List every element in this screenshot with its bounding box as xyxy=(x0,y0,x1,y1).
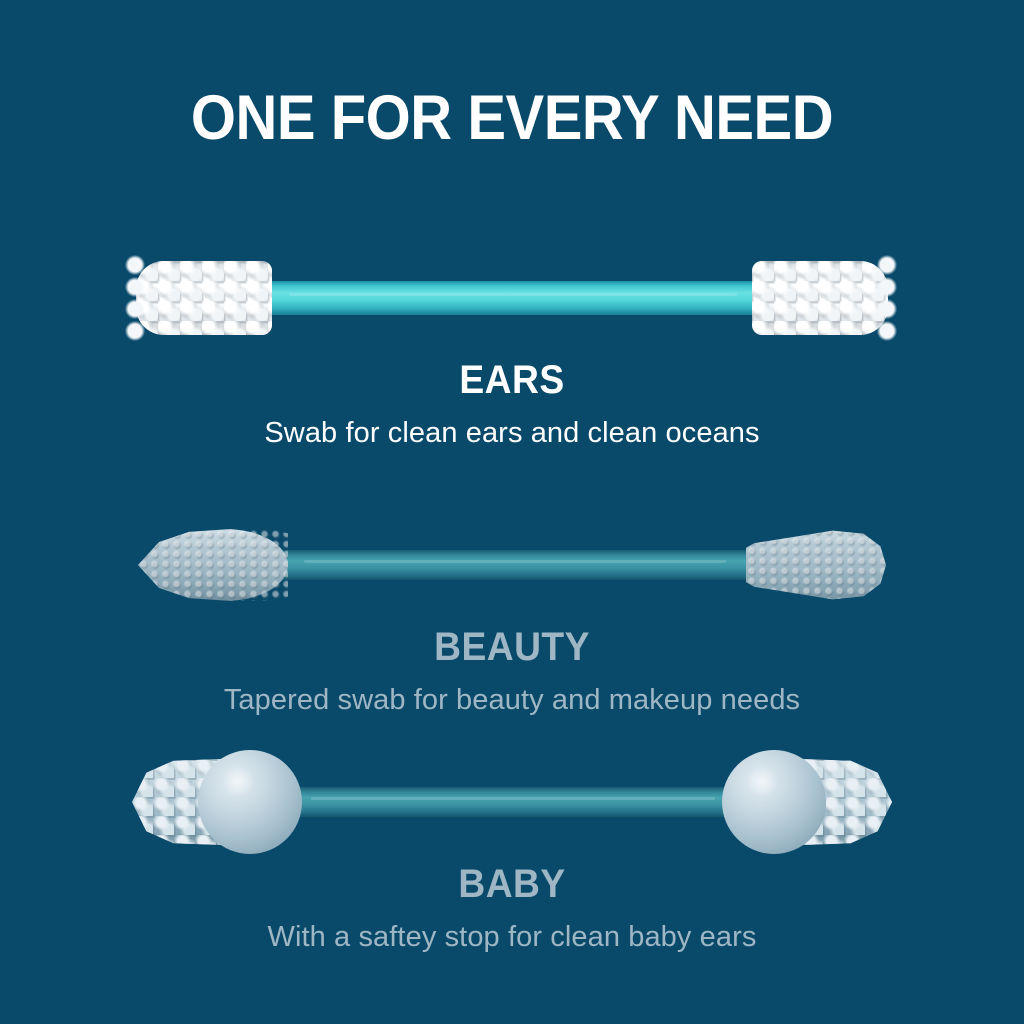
ball-highlight xyxy=(221,767,256,796)
tip-fringe xyxy=(123,254,149,342)
swab-tip-right xyxy=(746,526,886,604)
swab-tip-right xyxy=(722,748,892,856)
swab-image-ears xyxy=(0,238,1024,358)
swab-shaft xyxy=(253,281,773,315)
swab-tip-right xyxy=(752,261,888,335)
swab-shaft xyxy=(278,787,748,817)
tip-texture xyxy=(752,261,888,335)
product-section-baby: BABY With a saftey stop for clean baby e… xyxy=(0,742,1024,954)
swab-tip-left xyxy=(132,748,302,856)
product-section-beauty: BEAUTY Tapered swab for beauty and makeu… xyxy=(0,505,1024,717)
page-title: ONE FOR EVERY NEED xyxy=(41,82,983,154)
tip-texture xyxy=(136,261,272,335)
tip-texture xyxy=(746,526,886,604)
product-caption-beauty: Tapered swab for beauty and makeup needs xyxy=(0,684,1024,717)
swab-image-beauty xyxy=(0,505,1024,625)
swab-shaft xyxy=(270,550,760,580)
ball-highlight xyxy=(745,767,780,796)
tip-fringe xyxy=(875,254,901,342)
product-caption-baby: With a saftey stop for clean baby ears xyxy=(0,921,1024,954)
product-heading-baby: BABY xyxy=(36,862,988,907)
tip-texture xyxy=(138,529,288,601)
safety-stop-ball xyxy=(722,750,826,854)
swab-tip-left xyxy=(138,529,288,601)
swab-image-baby xyxy=(0,742,1024,862)
product-caption-ears: Swab for clean ears and clean oceans xyxy=(0,417,1024,450)
product-heading-beauty: BEAUTY xyxy=(36,625,988,670)
safety-stop-ball xyxy=(198,750,302,854)
swab-tip-left xyxy=(136,261,272,335)
promo-graphic: ONE FOR EVERY NEED EARS Swab for clean e… xyxy=(0,0,1024,1024)
product-section-ears: EARS Swab for clean ears and clean ocean… xyxy=(0,238,1024,450)
product-heading-ears: EARS xyxy=(36,358,988,403)
